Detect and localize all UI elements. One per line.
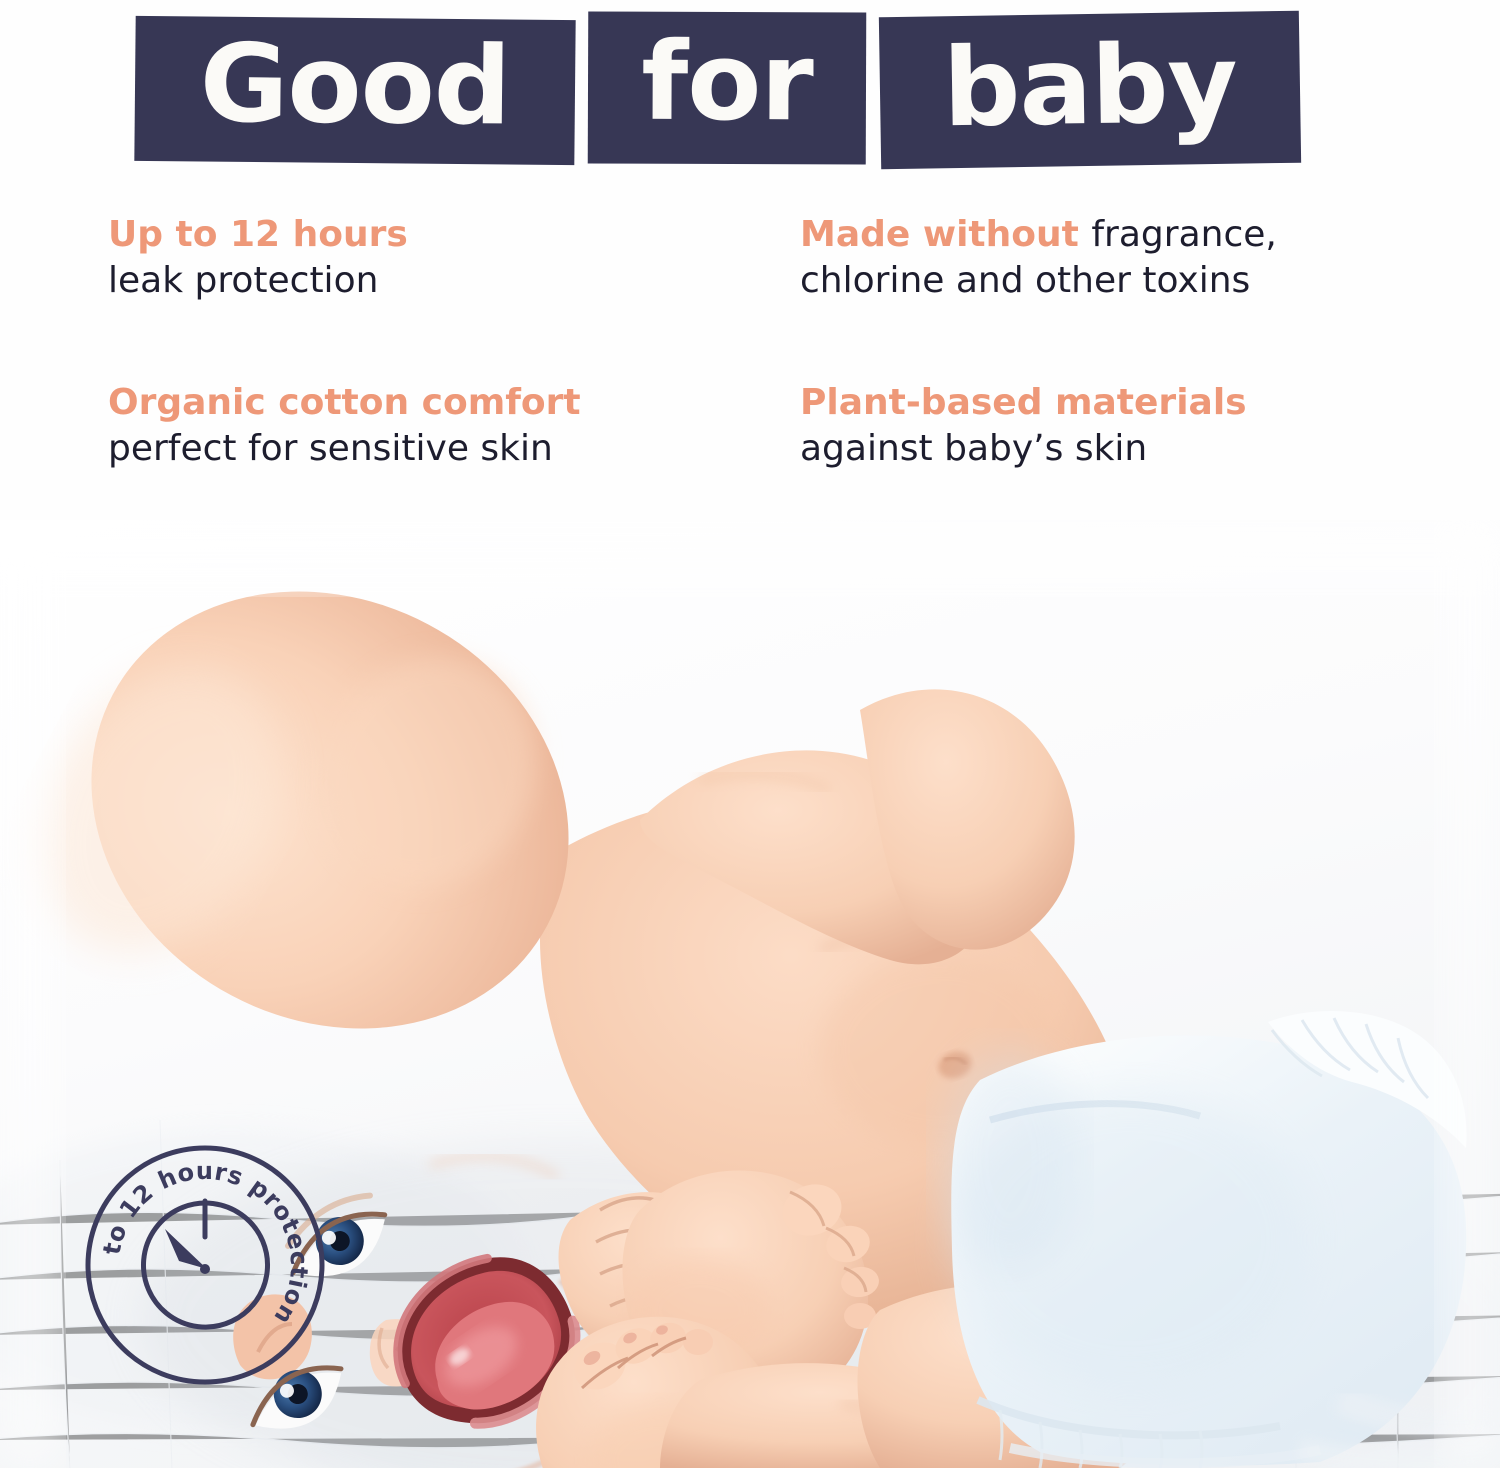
feature-item-organic-cotton: Organic cotton comfortperfect for sensit…	[108, 380, 668, 471]
feature-item-leak-protection: Up to 12 hoursleak protection	[108, 212, 668, 303]
feature-sub: against baby’s skin	[800, 428, 1147, 469]
protection-badge: up to 12 hours protection	[83, 1143, 327, 1387]
headline-box-for: for	[588, 12, 867, 165]
feature-item-plant-based: Plant-based materialsagainst baby’s skin	[800, 380, 1360, 471]
headline-word-good: Good	[199, 30, 510, 151]
headline-word-for: for	[641, 29, 813, 148]
feature-item-made-without: Made without fragrance, chlorine and oth…	[800, 212, 1360, 303]
headline-banner: Good for baby	[0, 0, 1500, 195]
headline-word-baby: baby	[942, 31, 1238, 150]
feature-text: Up to 12 hoursleak protection	[108, 212, 668, 303]
feature-grid: Up to 12 hoursleak protection Made witho…	[108, 212, 1398, 512]
clock-timer-icon	[136, 1196, 274, 1334]
feature-text: Organic cotton comfortperfect for sensit…	[108, 380, 668, 471]
feature-lead: Organic cotton comfort	[108, 382, 581, 423]
feature-text: Plant-based materialsagainst baby’s skin	[800, 380, 1360, 471]
headline-box-baby: baby	[879, 11, 1301, 170]
headline-box-good: Good	[134, 16, 575, 165]
product-feature-graphic: Good for baby Up to 12 hoursleak protect…	[0, 0, 1500, 1468]
feature-sub: perfect for sensitive skin	[108, 428, 553, 469]
feature-lead: Made without	[800, 214, 1091, 255]
feature-text: Made without fragrance, chlorine and oth…	[800, 212, 1360, 303]
feature-lead: Up to 12 hours	[108, 214, 408, 255]
feature-sub: leak protection	[108, 260, 378, 301]
feature-lead: Plant-based materials	[800, 382, 1247, 423]
